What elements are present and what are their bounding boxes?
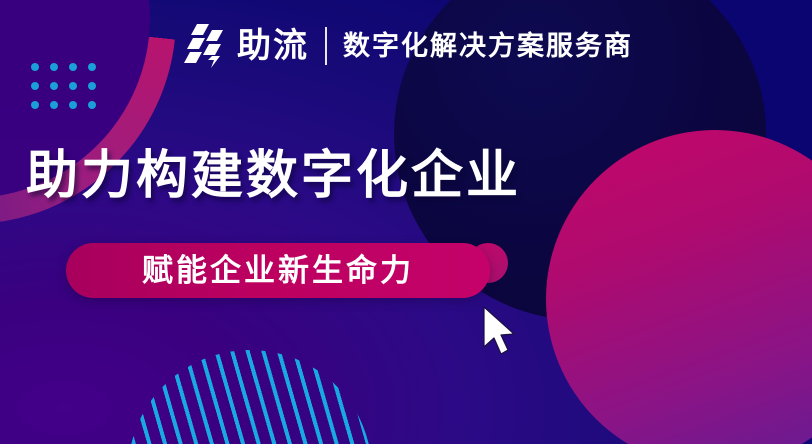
brand-header: 助流 数字化解决方案服务商 bbox=[0, 22, 812, 70]
brand-tagline: 数字化解决方案服务商 bbox=[343, 33, 633, 60]
cyan-dot-grid bbox=[31, 63, 107, 120]
magenta-gradient-circle bbox=[546, 130, 812, 444]
grid-dot bbox=[69, 101, 77, 109]
vertical-divider bbox=[325, 27, 327, 65]
cyan-striped-circle bbox=[128, 350, 372, 444]
grid-dot bbox=[31, 82, 39, 90]
grid-dot bbox=[88, 101, 96, 109]
promo-banner: 助流 数字化解决方案服务商 助力构建数字化企业 赋能企业新生命力 bbox=[0, 0, 812, 444]
cta-pill-label: 赋能企业新生命力 bbox=[142, 255, 414, 286]
brand-name: 助流 bbox=[237, 29, 309, 63]
brand-lockup[interactable]: 助流 bbox=[179, 22, 309, 70]
grid-dot bbox=[88, 82, 96, 90]
grid-dot bbox=[31, 101, 39, 109]
grid-dot bbox=[50, 101, 58, 109]
mouse-pointer-cursor bbox=[480, 305, 522, 357]
grid-dot bbox=[50, 82, 58, 90]
flow-bolt-logo-icon bbox=[179, 22, 227, 70]
hero-headline: 助力构建数字化企业 bbox=[26, 148, 521, 205]
cta-pill-button[interactable]: 赋能企业新生命力 bbox=[66, 243, 490, 298]
grid-dot bbox=[69, 82, 77, 90]
